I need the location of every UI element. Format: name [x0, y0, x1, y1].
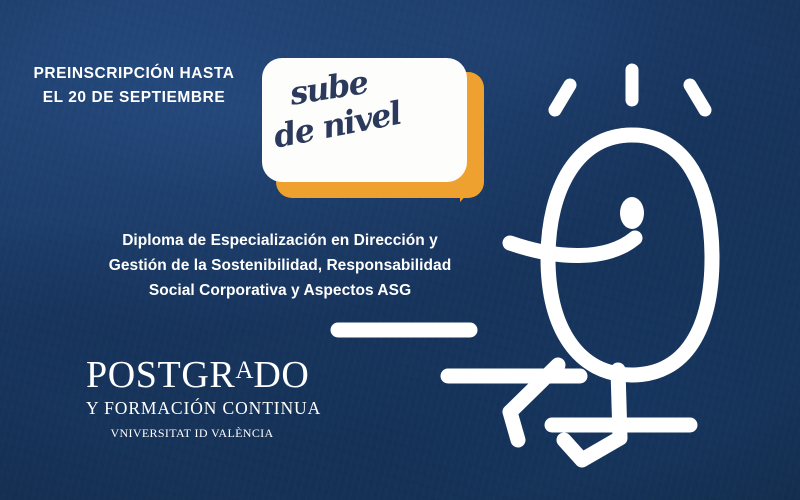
preinscription-line-1: PREINSCRIPCIÓN HASTA	[0, 62, 268, 86]
stick-figure-illustration	[320, 40, 800, 490]
logo-wordmark-raised-a: A	[235, 357, 253, 384]
logo-wordmark: POSTGRADO	[86, 356, 298, 394]
logo-wordmark-part-1: POSTGR	[86, 354, 235, 396]
postgrado-logo: POSTGRADO Y FORMACIÓN CONTINUA VNIVERSIT…	[86, 356, 298, 441]
eye-icon	[620, 197, 644, 229]
spark-line-left-icon	[555, 85, 570, 110]
spark-lines-icon	[555, 70, 705, 110]
arm-icon	[510, 238, 635, 256]
logo-subtitle: Y FORMACIÓN CONTINUA	[86, 398, 298, 419]
poster-canvas: PREINSCRIPCIÓN HASTA EL 20 DE SEPTIEMBRE…	[0, 0, 800, 500]
logo-university: VNIVERSITAT ID VALÈNCIA	[86, 426, 298, 441]
preinscription-line-2: EL 20 DE SEPTIEMBRE	[0, 86, 268, 110]
spark-line-right-icon	[690, 85, 705, 110]
logo-wordmark-part-2: DO	[253, 354, 309, 396]
preinscription-headline: PREINSCRIPCIÓN HASTA EL 20 DE SEPTIEMBRE	[0, 62, 268, 110]
